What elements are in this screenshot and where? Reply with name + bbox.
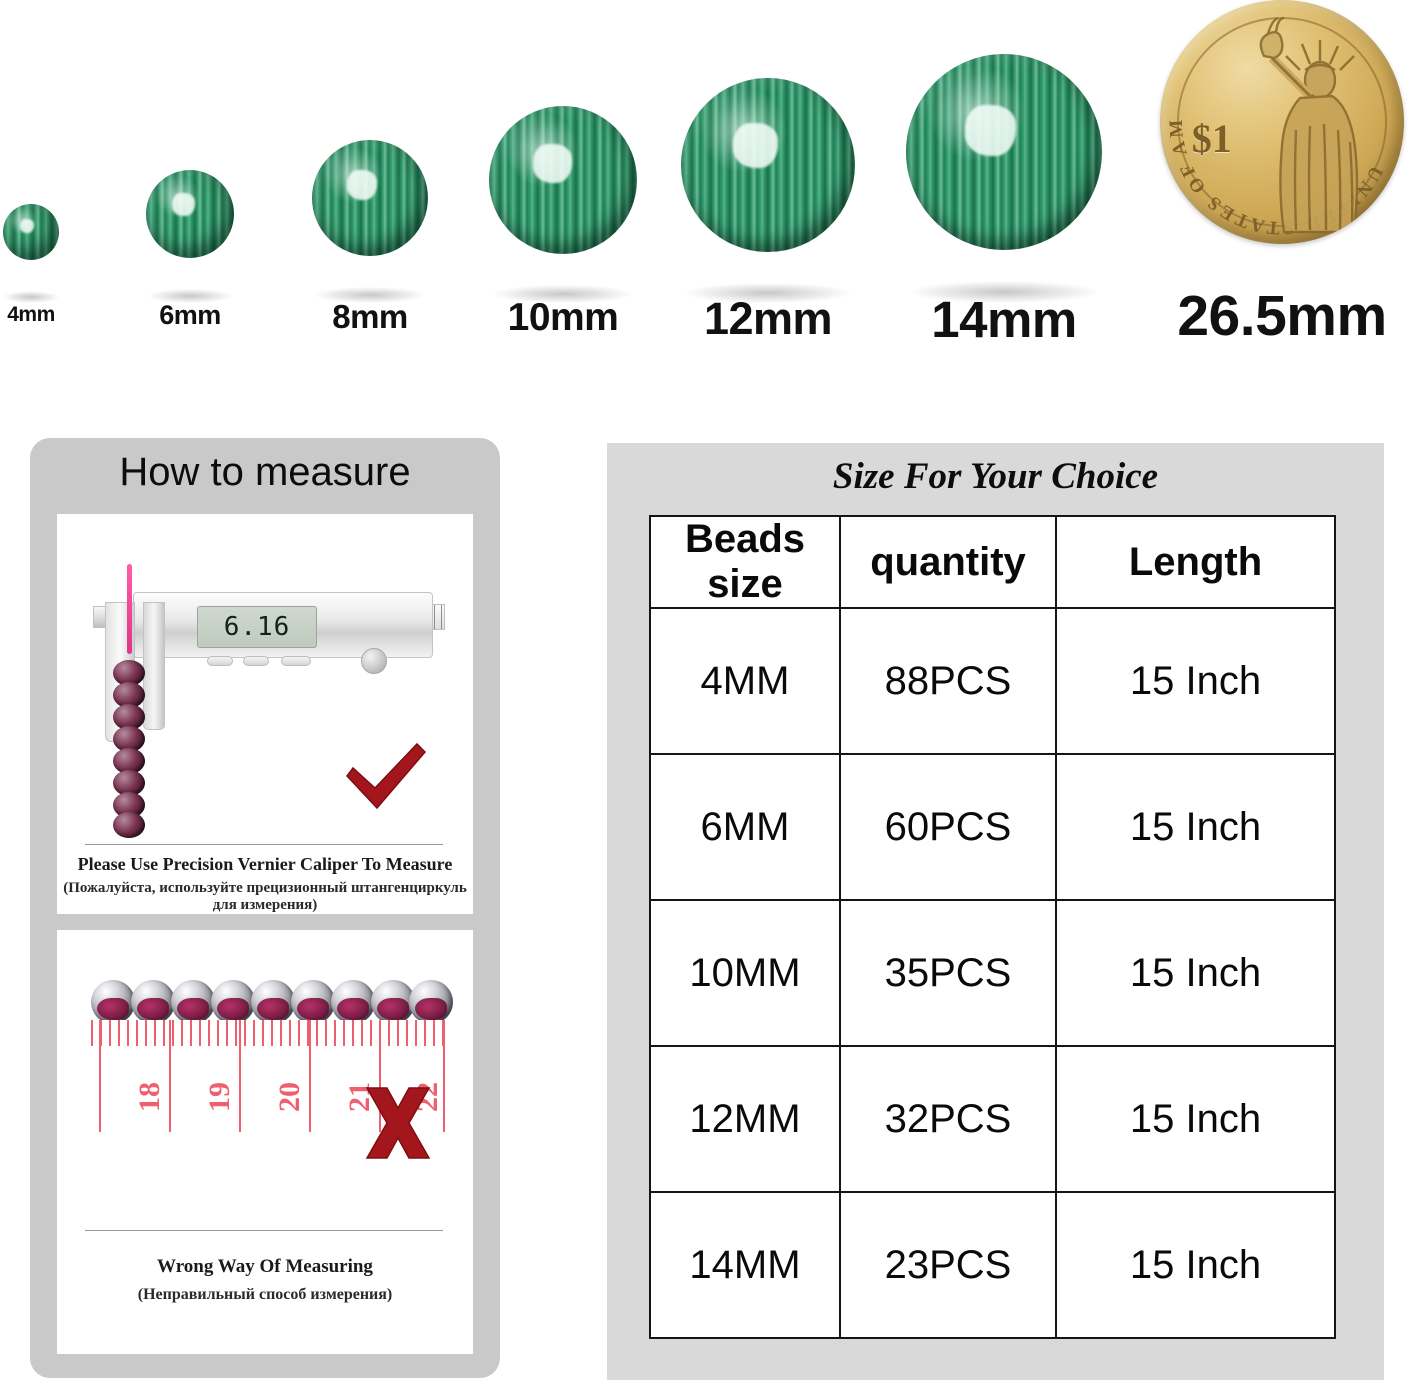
cell-length: 15 Inch	[1056, 1192, 1335, 1338]
bead-item-4mm: 4mm	[0, 204, 62, 345]
cell-beads-size: 14MM	[650, 1192, 840, 1338]
cell-quantity: 23PCS	[840, 1192, 1056, 1338]
bead-shadow	[148, 289, 232, 303]
infographic-root: 4mm 6mm 8mm 10mm 12mm	[0, 0, 1414, 1384]
bead-label-8mm: 8mm	[308, 300, 432, 333]
bottom-section: How to measure 6.16	[0, 345, 1414, 1384]
bead-shadow	[3, 291, 59, 303]
wrong-way-caption-ru: (Неправильный способ измерения)	[57, 1286, 473, 1304]
tape-ticks	[91, 1020, 447, 1046]
column-header-length: Length	[1056, 516, 1335, 608]
cell-quantity: 60PCS	[840, 754, 1056, 900]
column-header-beads-size: Beads size	[650, 516, 840, 608]
wrong-way-card: 18 19 20 21 22 Wrong Way Of Measuring (Н…	[57, 930, 473, 1354]
cell-quantity: 35PCS	[840, 900, 1056, 1046]
bead-shadow	[315, 287, 425, 303]
cell-quantity: 32PCS	[840, 1046, 1056, 1192]
steel-bead-strand	[91, 980, 449, 1024]
bead-shadow	[910, 281, 1098, 303]
steel-bead	[131, 980, 175, 1024]
caliper-lcd-display: 6.16	[197, 606, 317, 648]
bead-sphere-10mm	[489, 106, 637, 254]
steel-bead	[171, 980, 215, 1024]
bead-item-12mm: 12mm	[676, 78, 860, 345]
tape-number: 20	[273, 1082, 307, 1112]
caliper-reading-value: 6.16	[224, 612, 291, 642]
cell-length: 15 Inch	[1056, 900, 1335, 1046]
caliper-button-on	[243, 656, 269, 666]
bead-label-6mm: 6mm	[142, 302, 238, 329]
column-header-quantity: quantity	[840, 516, 1056, 608]
table-row: 6MM 60PCS 15 Inch	[650, 754, 1335, 900]
bead-label-4mm: 4mm	[0, 304, 62, 325]
bead-shadow	[493, 285, 633, 303]
cell-length: 15 Inch	[1056, 608, 1335, 754]
steel-bead	[331, 980, 375, 1024]
wrong-way-caption-en: Wrong Way Of Measuring	[57, 1256, 473, 1278]
table-row: 12MM 32PCS 15 Inch	[650, 1046, 1335, 1192]
caliper-button-zero	[281, 656, 311, 666]
right-way-caption-en: Please Use Precision Vernier Caliper To …	[57, 854, 473, 875]
steel-bead	[211, 980, 255, 1024]
right-way-card: 6.16	[57, 514, 473, 914]
coin-denomination: $1	[1192, 115, 1232, 162]
table-row: 10MM 35PCS 15 Inch	[650, 900, 1335, 1046]
how-to-measure-panel: How to measure 6.16	[30, 438, 500, 1378]
how-to-measure-title: How to measure	[30, 450, 500, 495]
coin-label-26-5mm: 26.5mm	[1150, 288, 1414, 345]
card-divider	[85, 1230, 443, 1231]
size-table-title: Size For Your Choice	[607, 455, 1384, 498]
strand-bead	[113, 812, 145, 838]
steel-bead	[409, 980, 453, 1024]
caliper-thumb-wheel	[361, 648, 387, 674]
bead-size-comparison-row: 4mm 6mm 8mm 10mm 12mm	[0, 0, 1414, 345]
tape-major-line	[443, 1020, 445, 1132]
card-divider	[85, 844, 443, 845]
tape-major-line	[239, 1020, 241, 1132]
tape-measure-illustration: 18 19 20 21 22	[79, 972, 459, 1182]
tape-number: 19	[203, 1082, 237, 1112]
bead-sphere-8mm	[312, 140, 428, 256]
bead-sphere-6mm	[146, 170, 234, 258]
us-dollar-coin: UNITED STATES OF AMERICA	[1160, 0, 1404, 244]
vernier-caliper-illustration: 6.16	[85, 544, 445, 834]
table-row: 14MM 23PCS 15 Inch	[650, 1192, 1335, 1338]
cell-quantity: 88PCS	[840, 608, 1056, 754]
tape-major-line	[99, 1020, 101, 1132]
size-table-panel: Size For Your Choice Beads size quantity…	[607, 443, 1384, 1380]
bead-item-8mm: 8mm	[308, 140, 432, 345]
cell-beads-size: 10MM	[650, 900, 840, 1046]
size-table: Beads size quantity Length 4MM 88PCS 15 …	[649, 515, 1336, 1339]
bead-shadow	[685, 283, 851, 303]
bead-item-14mm: 14mm	[900, 54, 1108, 345]
check-mark-icon	[343, 742, 429, 812]
right-way-caption-ru: (Пожалуйста, используйте прецизионный шт…	[57, 880, 473, 914]
caliper-button-off	[207, 656, 233, 666]
tape-number: 18	[133, 1082, 167, 1112]
cell-beads-size: 4MM	[650, 608, 840, 754]
cell-length: 15 Inch	[1056, 1046, 1335, 1192]
bead-sphere-12mm	[681, 78, 855, 252]
coin-item-26-5mm: UNITED STATES OF AMERICA	[1150, 0, 1414, 345]
tape-major-line	[169, 1020, 171, 1132]
steel-bead	[251, 980, 295, 1024]
caliper-pink-rod	[127, 564, 132, 654]
bead-item-6mm: 6mm	[142, 170, 238, 345]
steel-bead	[91, 980, 135, 1024]
bead-sphere-14mm	[906, 54, 1102, 250]
steel-bead	[291, 980, 335, 1024]
table-row: 4MM 88PCS 15 Inch	[650, 608, 1335, 754]
bead-label-10mm: 10mm	[484, 298, 642, 337]
cross-mark-icon	[359, 1084, 437, 1162]
cell-beads-size: 6MM	[650, 754, 840, 900]
bead-sphere-4mm	[3, 204, 59, 260]
cell-length: 15 Inch	[1056, 754, 1335, 900]
tape-major-line	[309, 1020, 311, 1132]
bead-strand-being-measured	[113, 660, 147, 838]
cell-beads-size: 12MM	[650, 1046, 840, 1192]
table-header-row: Beads size quantity Length	[650, 516, 1335, 608]
bead-item-10mm: 10mm	[484, 106, 642, 345]
